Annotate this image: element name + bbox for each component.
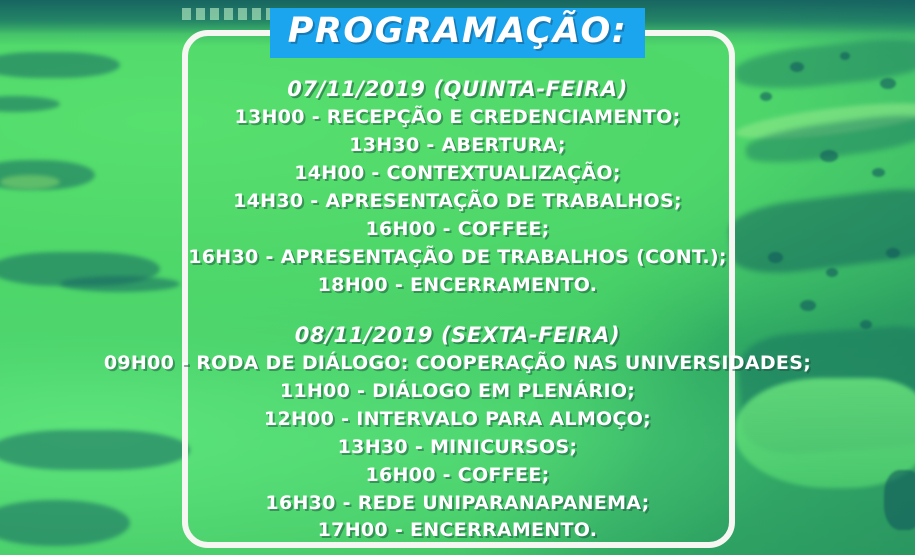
schedule-item: 17H00 - ENCERRAMENTO. <box>0 517 915 545</box>
day-heading-2: 08/11/2019 (SEXTA-FEIRA) <box>0 322 915 348</box>
schedule-item: 14H30 - APRESENTAÇÃO DE TRABALHOS; <box>0 188 915 216</box>
schedule-item: 09H00 - RODA DE DIÁLOGO: COOPERAÇÃO NAS … <box>0 350 915 378</box>
schedule-item: 16H30 - APRESENTAÇÃO DE TRABALHOS (CONT.… <box>0 244 915 272</box>
schedule-item: 16H30 - REDE UNIPARANAPANEMA; <box>0 490 915 518</box>
schedule-item: 16H00 - COFFEE; <box>0 462 915 490</box>
schedule-item: 16H00 - COFFEE; <box>0 216 915 244</box>
schedule-item: 13H30 - MINICURSOS; <box>0 434 915 462</box>
schedule-item: 13H30 - ABERTURA; <box>0 132 915 160</box>
schedule-item: 14H00 - CONTEXTUALIZAÇÃO; <box>0 160 915 188</box>
page-title: PROGRAMAÇÃO: <box>270 8 645 58</box>
poster-content: PROGRAMAÇÃO: 07/11/2019 (QUINTA-FEIRA) 1… <box>0 0 915 555</box>
schedule-item: 13H00 - RECEPÇÃO E CREDENCIAMENTO; <box>0 104 915 132</box>
schedule-item: 18H00 - ENCERRAMENTO. <box>0 272 915 300</box>
schedule-item: 11H00 - DIÁLOGO EM PLENÁRIO; <box>0 378 915 406</box>
schedule-item: 12H00 - INTERVALO PARA ALMOÇO; <box>0 406 915 434</box>
program-poster: PROGRAMAÇÃO: 07/11/2019 (QUINTA-FEIRA) 1… <box>0 0 915 555</box>
day-heading-1: 07/11/2019 (QUINTA-FEIRA) <box>0 76 915 102</box>
